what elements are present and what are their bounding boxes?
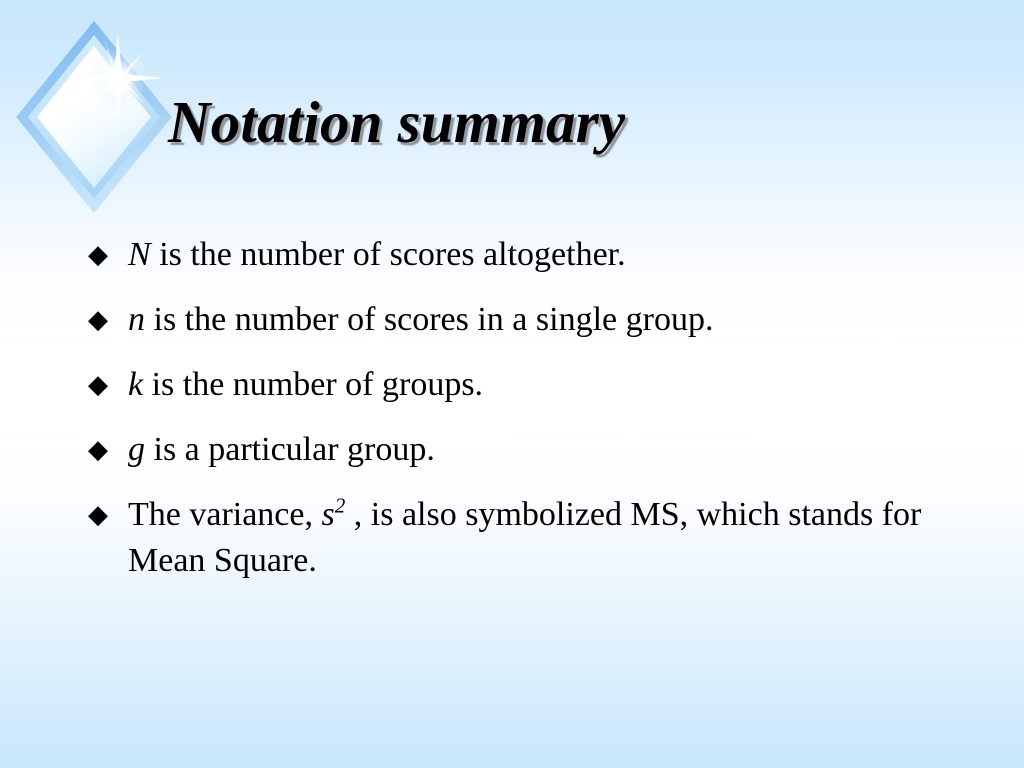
list-item-lead: The variance, [128, 496, 322, 533]
list-item: ◆ g is a particular group. [88, 427, 978, 473]
list-item: ◆ n is the number of scores in a single … [88, 297, 978, 343]
sparkle-core [111, 71, 125, 85]
slide-canvas: Notation summary ◆ N is the number of sc… [0, 0, 1024, 768]
variable-symbol: n [128, 301, 145, 338]
list-item-rest: is a particular group. [145, 431, 435, 468]
diamond-sparkle-logo [18, 24, 170, 210]
variable-symbol: g [128, 431, 145, 468]
bullet-list: ◆ N is the number of scores altogether. … [88, 232, 978, 584]
list-item-text: g is a particular group. [128, 427, 978, 473]
diamond-bullet-icon: ◆ [88, 492, 128, 538]
list-item-rest: is the number of scores altogether. [151, 236, 626, 273]
diamond-bullet-icon: ◆ [88, 297, 128, 343]
page-title: Notation summary [168, 92, 625, 154]
list-item-text: k is the number of groups. [128, 362, 978, 408]
list-item-text: N is the number of scores altogether. [128, 232, 978, 278]
list-item-rest: is the number of groups. [143, 366, 483, 403]
diamond-bullet-icon: ◆ [88, 427, 128, 473]
variable-symbol: k [128, 366, 143, 403]
list-item: ◆ The variance, s2 , is also symbolized … [88, 492, 978, 584]
variance-exponent: 2 [335, 494, 346, 518]
variance-symbol: s [322, 496, 335, 533]
diamond-bullet-icon: ◆ [88, 232, 128, 278]
list-item: ◆ k is the number of groups. [88, 362, 978, 408]
variable-symbol: N [128, 236, 151, 273]
diamond-bullet-icon: ◆ [88, 362, 128, 408]
list-item: ◆ N is the number of scores altogether. [88, 232, 978, 278]
list-item-text: n is the number of scores in a single gr… [128, 297, 978, 343]
list-item-text: The variance, s2 , is also symbolized MS… [128, 492, 978, 584]
list-item-rest: is the number of scores in a single grou… [145, 301, 713, 338]
